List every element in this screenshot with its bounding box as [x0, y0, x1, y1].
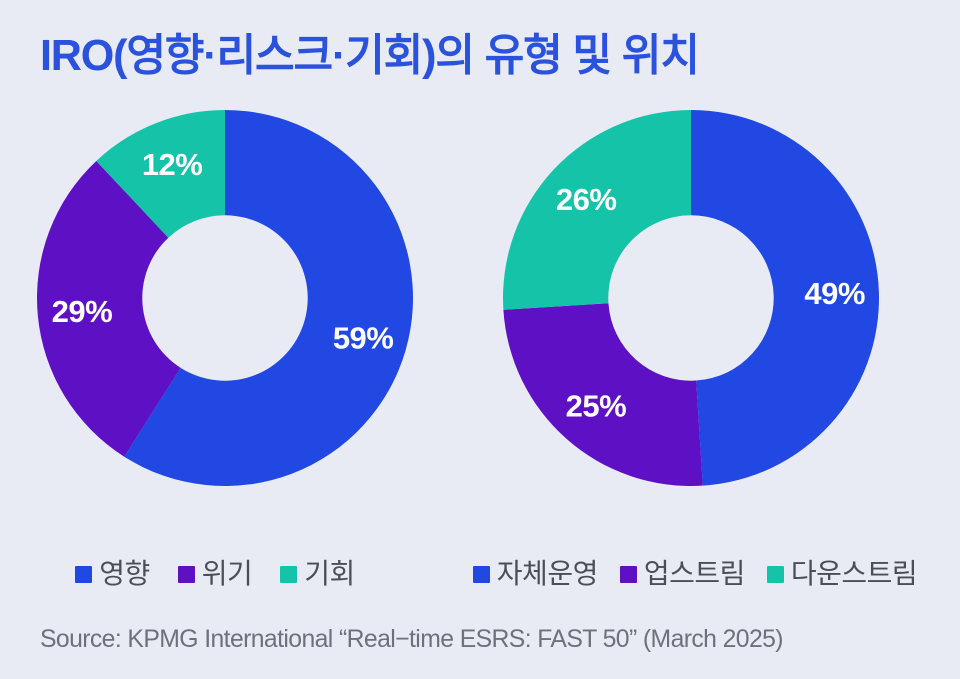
slice-label-left-0: 59%: [333, 321, 394, 356]
legend-item-left-2[interactable]: 기회: [280, 560, 355, 588]
source-note: Source: KPMG International “Real−time ES…: [40, 618, 921, 660]
slice-label-right-1: 25%: [566, 388, 627, 423]
legend-swatch-icon: [767, 566, 784, 583]
legend-item-right-1[interactable]: 업스트림: [620, 560, 745, 588]
legend-swatch-icon: [473, 566, 490, 583]
donut-svg-right: 49%25%26%: [502, 109, 880, 487]
slice-label-right-0: 49%: [804, 276, 865, 311]
legend-item-right-0[interactable]: 자체운영: [473, 560, 598, 588]
legend-swatch-icon: [280, 566, 297, 583]
legend-item-label: 업스트림: [644, 560, 745, 588]
chart-page: IRO(영향·리스크·기회)의 유형 및 위치 59%29%12% 49%25%…: [0, 0, 960, 679]
legend-swatch-icon: [75, 566, 92, 583]
legend-item-label: 기회: [304, 560, 355, 588]
page-title: IRO(영향·리스크·기회)의 유형 및 위치: [40, 20, 902, 82]
slice-label-right-2: 26%: [556, 182, 617, 217]
slice-label-left-1: 29%: [52, 294, 113, 329]
legend-item-label: 위기: [202, 560, 253, 588]
donut-chart-iro-type: 59%29%12%: [15, 100, 435, 515]
charts-container: 59%29%12% 49%25%26%: [0, 100, 960, 515]
legend-item-right-2[interactable]: 다운스트림: [767, 560, 917, 588]
legend-item-left-1[interactable]: 위기: [178, 560, 253, 588]
legend-iro-type: 영향위기기회: [0, 548, 430, 600]
legend-swatch-icon: [620, 566, 637, 583]
legend-item-label: 영향: [99, 560, 150, 588]
slice-label-left-2: 12%: [142, 147, 203, 182]
legends: 영향위기기회 자체운영업스트림다운스트림: [0, 548, 960, 600]
donut-svg-left: 59%29%12%: [36, 109, 414, 487]
legend-iro-location: 자체운영업스트림다운스트림: [430, 548, 960, 600]
legend-item-left-0[interactable]: 영향: [75, 560, 150, 588]
donut-chart-iro-location: 49%25%26%: [481, 100, 901, 515]
legend-swatch-icon: [178, 566, 195, 583]
legend-item-label: 다운스트림: [791, 560, 917, 588]
legend-item-label: 자체운영: [497, 560, 598, 588]
